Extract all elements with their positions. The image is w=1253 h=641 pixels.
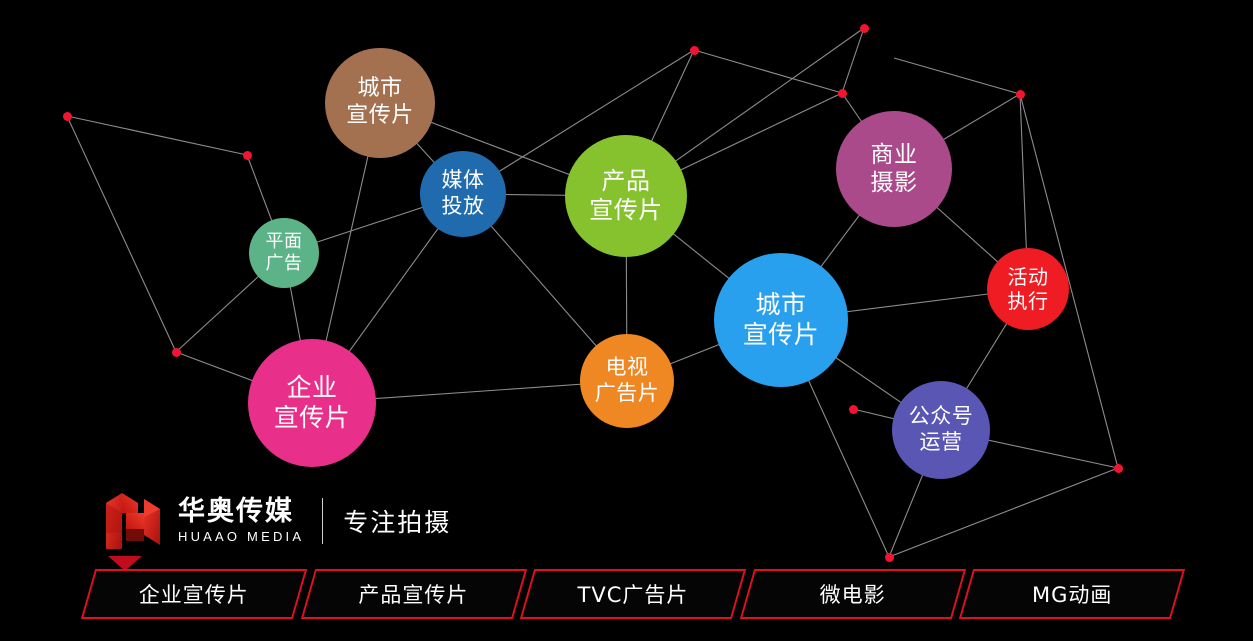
bubble-label-line: 电视 (606, 355, 649, 381)
tab-label: TVC广告片 (527, 569, 739, 619)
bubble-event-execution[interactable]: 活动执行 (987, 248, 1069, 330)
bubble-label-line: 宣传片 (346, 103, 414, 130)
bubble-label-line: 产品 (602, 167, 651, 196)
bubble-label-line: 投放 (442, 194, 485, 220)
category-tab-bar: 企业宣传片产品宣传片TVC广告片微电影MG动画 (88, 569, 1178, 619)
node-8 (849, 405, 858, 414)
company-name-cn: 华奥传媒 (178, 498, 304, 526)
bubble-label-line: 企业 (286, 373, 337, 404)
node-9 (1114, 464, 1123, 473)
bubble-label-line: 广告 (266, 253, 303, 275)
tab-label: 产品宣传片 (308, 569, 520, 619)
bubble-tv-commercial[interactable]: 电视广告片 (580, 334, 674, 428)
node-1 (63, 112, 72, 121)
tab-tvc[interactable]: TVC广告片 (527, 569, 739, 619)
tab-product-promo[interactable]: 产品宣传片 (308, 569, 520, 619)
infographic-canvas: 城市宣传片媒体投放平面广告产品宣传片商业摄影活动执行城市宣传片电视广告片企业宣传… (0, 0, 1253, 641)
bubble-label-line: 媒体 (442, 168, 485, 194)
bubble-label-line: 广告片 (595, 381, 660, 407)
node-6 (838, 89, 847, 98)
bubble-label-line: 运营 (920, 430, 963, 456)
tab-mg-animation[interactable]: MG动画 (966, 569, 1178, 619)
tab-label: MG动画 (966, 569, 1178, 619)
bubble-label-line: 摄影 (871, 169, 918, 197)
bubble-label-line: 宣传片 (743, 320, 820, 351)
connection-line (694, 50, 842, 93)
bubble-label-line: 平面 (266, 231, 303, 253)
brand-logo: 华奥传媒 HUAAO MEDIA 专注拍摄 (104, 489, 451, 553)
bubble-label-line: 执行 (1008, 289, 1049, 313)
bubble-media-placement[interactable]: 媒体投放 (420, 151, 506, 237)
logo-slogan: 专注拍摄 (343, 503, 451, 539)
bubble-city-promo-blue[interactable]: 城市宣传片 (714, 253, 848, 387)
node-3 (172, 348, 181, 357)
huaao-h-monogram-icon (104, 489, 166, 553)
tab-label: 企业宣传片 (88, 569, 300, 619)
node-10 (885, 553, 894, 562)
bubble-label-line: 宣传片 (274, 403, 351, 434)
connection-line (889, 468, 1118, 557)
bubble-print-ad[interactable]: 平面广告 (249, 218, 319, 288)
node-5 (860, 24, 869, 33)
bubble-label-line: 活动 (1008, 265, 1049, 289)
logo-divider (322, 498, 323, 544)
logo-wordmark: 华奥传媒 HUAAO MEDIA (178, 498, 304, 544)
bubble-enterprise-promo[interactable]: 企业宣传片 (248, 339, 376, 467)
tab-label: 微电影 (747, 569, 959, 619)
connection-line (842, 28, 864, 93)
tab-micro-film[interactable]: 微电影 (747, 569, 959, 619)
node-4 (690, 46, 699, 55)
connection-line (67, 116, 247, 155)
company-name-en: HUAAO MEDIA (178, 529, 304, 544)
bubble-label-line: 城市 (755, 290, 806, 321)
connection-line (894, 58, 1020, 94)
node-7 (1016, 90, 1025, 99)
tab-enterprise-promo[interactable]: 企业宣传片 (88, 569, 300, 619)
bubble-wechat-operation[interactable]: 公众号运营 (892, 381, 990, 479)
bubble-label-line: 商业 (871, 141, 918, 169)
connection-line (67, 116, 176, 352)
bubble-city-promo-brown[interactable]: 城市宣传片 (325, 48, 435, 158)
bubble-product-promo[interactable]: 产品宣传片 (565, 135, 687, 257)
bubble-label-line: 城市 (357, 76, 402, 103)
bubble-commercial-photo[interactable]: 商业摄影 (836, 111, 952, 227)
node-2 (243, 151, 252, 160)
bubble-label-line: 宣传片 (589, 196, 663, 225)
bubble-label-line: 公众号 (909, 404, 974, 430)
